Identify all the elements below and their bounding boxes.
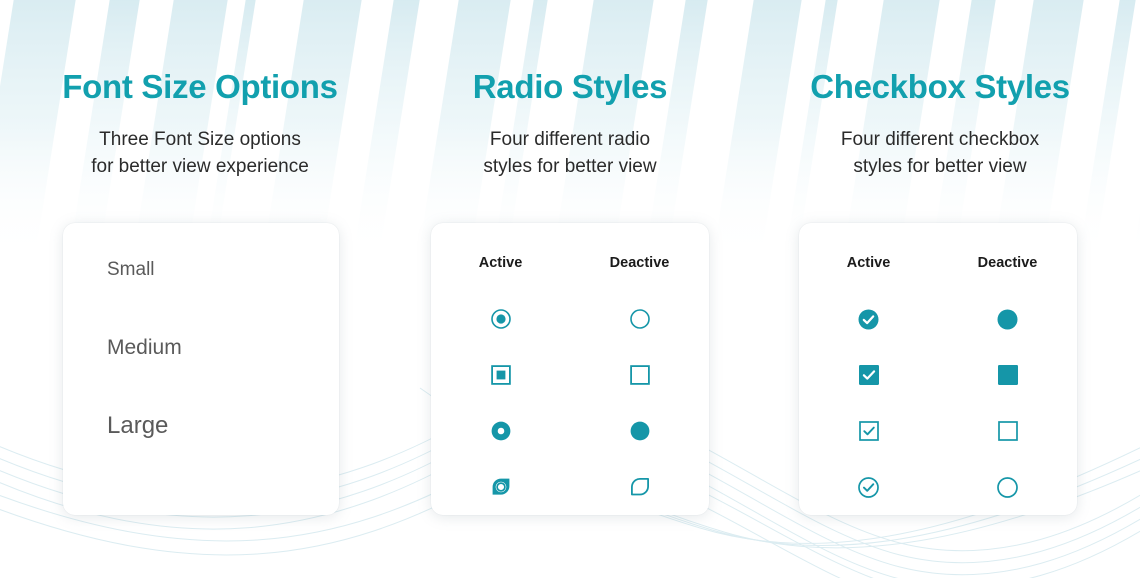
column-radio-styles: Radio Styles Four different radio styles… bbox=[400, 0, 740, 181]
column-font-size: Font Size Options Three Font Size option… bbox=[0, 0, 400, 181]
radio-ring-dot-icon[interactable] bbox=[431, 308, 570, 330]
radio-row bbox=[431, 459, 709, 515]
checkbox-row bbox=[799, 459, 1077, 515]
radio-column-headers: Active Deactive bbox=[431, 223, 709, 271]
page-root: Font Size Options Three Font Size option… bbox=[0, 0, 1140, 578]
subtitle-radio-styles: Four different radio styles for better v… bbox=[400, 127, 740, 181]
checkbox-styles-card: Active Deactive bbox=[799, 223, 1077, 515]
checkbox-row bbox=[799, 403, 1077, 459]
font-size-card: Small Medium Large bbox=[63, 223, 339, 515]
checkbox-row bbox=[799, 347, 1077, 403]
font-size-list: Small Medium Large bbox=[63, 223, 339, 440]
font-size-option-large[interactable]: Large bbox=[107, 412, 339, 440]
radio-header-deactive: Deactive bbox=[570, 255, 709, 271]
radio-leaf-ring-icon[interactable] bbox=[431, 475, 570, 499]
checkbox-column-headers: Active Deactive bbox=[799, 223, 1077, 271]
radio-row bbox=[431, 291, 709, 347]
page-title-radio-styles: Radio Styles bbox=[400, 69, 740, 105]
circle-outline-icon[interactable] bbox=[938, 477, 1077, 498]
radio-square-filled-icon[interactable] bbox=[431, 365, 570, 385]
check-circle-filled-icon[interactable] bbox=[799, 309, 938, 330]
page-title-font-size: Font Size Options bbox=[0, 69, 400, 105]
radio-ring-empty-icon[interactable] bbox=[570, 308, 709, 330]
check-square-outline-icon[interactable] bbox=[799, 421, 938, 441]
column-checkbox-styles: Checkbox Styles Four different checkbox … bbox=[740, 0, 1140, 181]
square-filled-icon[interactable] bbox=[938, 365, 1077, 385]
radio-styles-card: Active Deactive bbox=[431, 223, 709, 515]
radio-square-empty-icon[interactable] bbox=[570, 365, 709, 385]
radio-leaf-empty-icon[interactable] bbox=[570, 475, 709, 499]
radio-donut-icon[interactable] bbox=[431, 421, 570, 441]
subtitle-checkbox-styles: Four different checkbox styles for bette… bbox=[740, 127, 1140, 181]
checkbox-header-deactive: Deactive bbox=[938, 255, 1077, 271]
checkbox-header-active: Active bbox=[799, 255, 938, 271]
radio-rows bbox=[431, 291, 709, 515]
check-circle-outline-icon[interactable] bbox=[799, 477, 938, 498]
square-outline-icon[interactable] bbox=[938, 421, 1077, 441]
radio-row bbox=[431, 403, 709, 459]
circle-filled-icon[interactable] bbox=[938, 309, 1077, 330]
subtitle-font-size: Three Font Size options for better view … bbox=[0, 127, 400, 181]
page-title-checkbox-styles: Checkbox Styles bbox=[740, 69, 1140, 105]
font-size-option-medium[interactable]: Medium bbox=[107, 336, 339, 360]
radio-dot-filled-icon[interactable] bbox=[570, 421, 709, 441]
checkbox-rows bbox=[799, 291, 1077, 515]
radio-header-active: Active bbox=[431, 255, 570, 271]
radio-row bbox=[431, 347, 709, 403]
check-square-filled-icon[interactable] bbox=[799, 365, 938, 385]
checkbox-row bbox=[799, 291, 1077, 347]
font-size-option-small[interactable]: Small bbox=[107, 259, 339, 281]
